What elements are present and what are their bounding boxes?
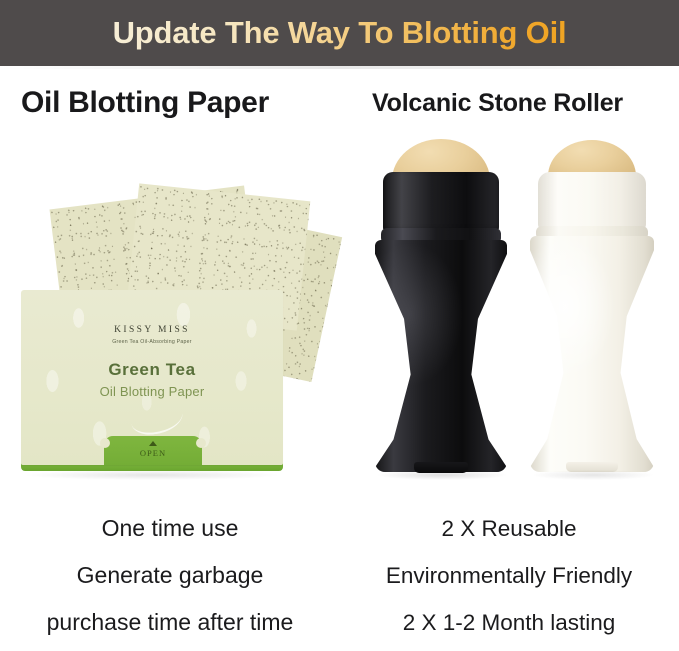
left-column-heading: Oil Blotting Paper	[21, 86, 269, 120]
box-brand-name: KISSY MISS	[21, 325, 283, 335]
benefit-item: Environmentally Friendly	[339, 552, 679, 599]
right-benefits-list: 2 X Reusable Environmentally Friendly 2 …	[339, 505, 679, 646]
benefit-item: purchase time after time	[0, 599, 340, 646]
box-brand-subtitle: Green Tea Oil-Absorbing Paper	[21, 339, 283, 345]
roller-shadow	[378, 470, 506, 480]
box-open-tab: OPEN	[104, 436, 202, 465]
roller-shadow	[533, 470, 653, 480]
box-shadow	[26, 470, 278, 480]
header-banner: Update The Way To Blotting Oil	[0, 0, 679, 66]
roller-body	[530, 236, 654, 472]
roller-collar	[538, 172, 646, 232]
triangle-up-icon	[149, 441, 157, 446]
roller-body	[375, 240, 507, 472]
box-product-subtitle: Oil Blotting Paper	[21, 384, 283, 399]
banner-title: Update The Way To Blotting Oil	[113, 15, 567, 51]
benefit-item: One time use	[0, 505, 340, 552]
benefit-item: Generate garbage	[0, 552, 340, 599]
benefit-item: 2 X Reusable	[339, 505, 679, 552]
roller-collar	[383, 172, 499, 234]
blotting-paper-box: KISSY MISS Green Tea Oil-Absorbing Paper…	[21, 290, 283, 465]
box-product-title: Green Tea	[21, 360, 283, 380]
banner-divider	[0, 66, 679, 69]
box-open-label: OPEN	[104, 448, 202, 458]
right-column-heading: Volcanic Stone Roller	[372, 89, 623, 118]
benefit-item: 2 X 1-2 Month lasting	[339, 599, 679, 646]
left-benefits-list: One time use Generate garbage purchase t…	[0, 505, 340, 646]
